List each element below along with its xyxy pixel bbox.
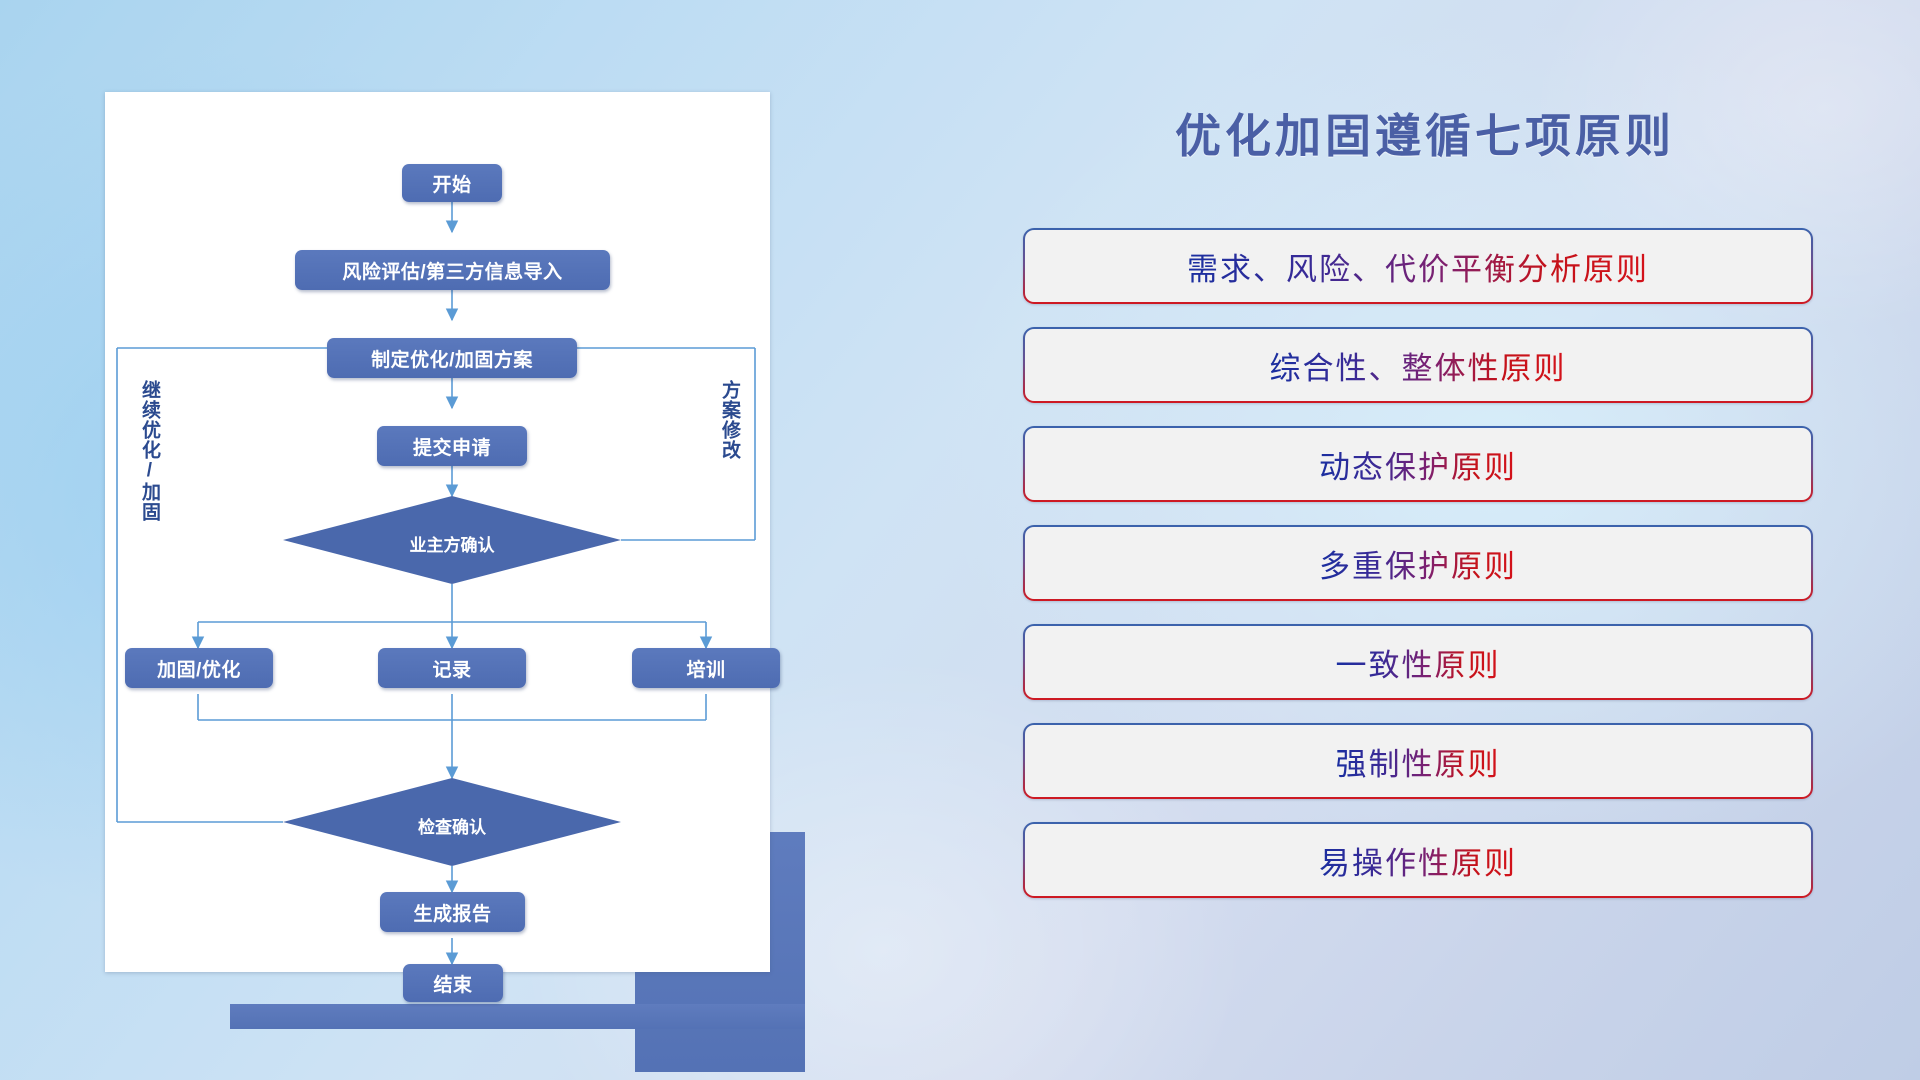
flow-node-training[interactable]: 培训 [632,648,780,688]
flow-node-generate-report[interactable]: 生成报告 [380,892,525,932]
flow-node-label: 制定优化/加固方案 [371,345,533,372]
edge-label-plan-revision: 方案修改 [719,380,739,460]
flow-node-label: 风险评估/第三方信息导入 [342,257,562,284]
flow-node-submit-application[interactable]: 提交申请 [377,426,527,466]
principle-label: 需求、风险、代价平衡分析原则 [1187,244,1649,289]
flow-node-label: 记录 [432,655,471,682]
flow-node-record[interactable]: 记录 [378,648,526,688]
principles-panel: 优化加固遵循七项原则 需求、风险、代价平衡分析原则 综合性、整体性原则 动态保护… [1010,100,1840,1000]
flow-node-start[interactable]: 开始 [402,164,502,202]
flowchart-card: 开始 风险评估/第三方信息导入 制定优化/加固方案 提交申请 业主方确认 加固/… [105,92,770,972]
flow-node-make-plan[interactable]: 制定优化/加固方案 [327,338,577,378]
flow-node-label: 提交申请 [413,433,491,460]
decision-check-confirm-label: 检查确认 [352,813,552,838]
principle-item-inner: 综合性、整体性原则 [1025,329,1811,401]
principle-item[interactable]: 需求、风险、代价平衡分析原则 [1023,228,1813,304]
principle-label: 综合性、整体性原则 [1270,343,1567,388]
principle-item-inner: 多重保护原则 [1025,527,1811,599]
principle-item-inner: 一致性原则 [1025,626,1811,698]
principle-item[interactable]: 综合性、整体性原则 [1023,327,1813,403]
principle-label: 多重保护原则 [1319,541,1517,586]
principle-item[interactable]: 动态保护原则 [1023,426,1813,502]
principles-title: 优化加固遵循七项原则 [1010,100,1840,166]
decision-owner-confirm-label: 业主方确认 [352,531,552,556]
principle-item[interactable]: 一致性原则 [1023,624,1813,700]
flow-node-label: 生成报告 [413,899,491,926]
flow-node-label: 开始 [432,170,471,197]
flow-node-risk-assessment[interactable]: 风险评估/第三方信息导入 [295,250,610,290]
flow-node-label: 结束 [433,970,472,997]
principle-item[interactable]: 强制性原则 [1023,723,1813,799]
accent-rectangle-bottom [230,1004,805,1029]
principle-item-inner: 需求、风险、代价平衡分析原则 [1025,230,1811,302]
principle-item-inner: 动态保护原则 [1025,428,1811,500]
principles-list: 需求、风险、代价平衡分析原则 综合性、整体性原则 动态保护原则 多重保护原则 [1023,228,1813,921]
principle-label: 易操作性原则 [1319,838,1517,883]
flow-node-end[interactable]: 结束 [403,964,503,1002]
principle-item[interactable]: 易操作性原则 [1023,822,1813,898]
principle-label: 动态保护原则 [1319,442,1517,487]
principle-item[interactable]: 多重保护原则 [1023,525,1813,601]
flow-node-label: 培训 [686,655,725,682]
principle-label: 强制性原则 [1336,739,1501,784]
flow-node-reinforce-optimize[interactable]: 加固/优化 [125,648,273,688]
slide-canvas: 开始 风险评估/第三方信息导入 制定优化/加固方案 提交申请 业主方确认 加固/… [0,0,1920,1080]
flow-node-label: 加固/优化 [157,655,241,682]
principle-item-inner: 易操作性原则 [1025,824,1811,896]
principle-label: 一致性原则 [1336,640,1501,685]
principle-item-inner: 强制性原则 [1025,725,1811,797]
edge-label-continue-optimize: 继续优化/加固 [139,380,159,522]
flowchart-panel: 开始 风险评估/第三方信息导入 制定优化/加固方案 提交申请 业主方确认 加固/… [105,92,785,966]
